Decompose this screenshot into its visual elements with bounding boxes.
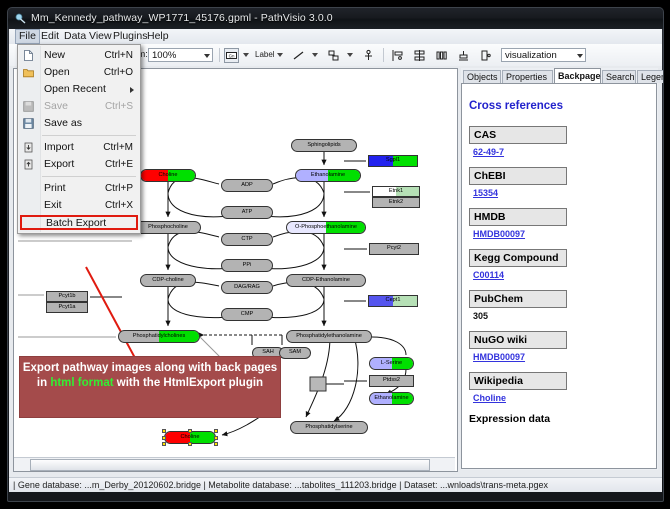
backpage-title: Cross references [469, 100, 645, 112]
node-label: CTP [241, 237, 252, 243]
export-icon [23, 159, 34, 170]
status-text: | Gene database: ...m_Derby_20120602.bri… [9, 480, 548, 490]
metabolite-node-dag-rag[interactable]: DAG/RAG [221, 281, 273, 294]
distribute-icon[interactable] [434, 48, 449, 63]
menu-item-accelerator: Ctrl+M [103, 139, 133, 156]
menu-item-label: Save [44, 100, 68, 112]
node-label: Pcyt1a [58, 305, 75, 311]
file-menu-item-batch-export[interactable]: Batch Export [20, 215, 138, 230]
chevron-down-icon [577, 54, 583, 58]
toolbar-separator [219, 48, 220, 62]
xref-link[interactable]: Choline [473, 393, 506, 403]
xref-link[interactable]: HMDB00097 [473, 229, 525, 239]
new-file-icon [23, 50, 34, 61]
menu-item-label: New [44, 49, 65, 61]
align-center-icon[interactable] [412, 48, 427, 63]
metabolite-node-cmp[interactable]: CMP [221, 308, 273, 321]
metabolite-node-ppi[interactable]: PPi [221, 259, 273, 272]
selection-handle[interactable] [214, 429, 218, 433]
xref-value-pubchem: 305 [473, 311, 645, 321]
node-label: ATP [242, 210, 252, 216]
menu-item-accelerator: Ctrl+X [105, 197, 133, 214]
menu-item-label: Exit [44, 199, 62, 211]
anchor-tool-icon[interactable] [361, 48, 376, 63]
cross-reference-list: CAS62-49-7ChEBI15354HMDBHMDB00097Kegg Co… [469, 126, 645, 403]
menu-item-accelerator: Ctrl+S [105, 98, 133, 115]
menu-item-label: Save as [44, 117, 82, 129]
xref-value-nugo-wiki[interactable]: HMDB00097 [473, 352, 645, 362]
file-menu-item-export[interactable]: ExportCtrl+E [18, 156, 140, 173]
node-label: ADP [241, 183, 253, 189]
node-label: Pcyt1b [58, 294, 75, 300]
xref-source-cas: CAS [469, 126, 567, 144]
zoom-value: 100% [152, 50, 176, 61]
application-window: Mm_Kennedy_pathway_WP1771_45176.gpml - P… [7, 7, 664, 502]
line-dropdown-icon[interactable] [312, 53, 318, 57]
tab-backpage[interactable]: Backpage [554, 68, 601, 83]
metabolite-node-phosphatidylserine[interactable]: Phosphatidylserine [290, 421, 368, 434]
line-tool-icon[interactable] [291, 48, 306, 63]
callout-text-after: with the HtmlExport plugin [114, 377, 264, 389]
metabolite-node-cdp-choline[interactable]: CDP-choline [140, 274, 196, 287]
xref-value-hmdb[interactable]: HMDB00097 [473, 229, 645, 239]
pathvisio-icon [15, 13, 26, 24]
node-label: SAH [262, 350, 274, 356]
metabolite-node-ctp[interactable]: CTP [221, 233, 273, 246]
node-label: O-Phosphoethanolamine [295, 225, 357, 231]
node-label: Choline [159, 173, 178, 179]
scrollbar-thumb[interactable] [30, 459, 430, 471]
menu-item-accelerator: Ctrl+N [104, 47, 133, 64]
menu-item-label: Export [44, 158, 74, 170]
node-label: PPi [243, 263, 252, 269]
node-label: CDP-choline [152, 278, 183, 284]
xref-source-kegg-compound: Kegg Compound [469, 249, 567, 267]
gene-node-ptdss2[interactable]: Ptdss2 [369, 375, 414, 387]
metabolite-node-phosphatidylcholines[interactable]: Phosphatidylcholines [118, 330, 200, 343]
gene-node-etnk1[interactable]: Etnk1 [372, 186, 420, 197]
menu-item-label: Open Recent [44, 83, 106, 95]
node-label: Phosphatidylserine [305, 425, 352, 431]
xref-source-hmdb: HMDB [469, 208, 567, 226]
node-label: Phosphatidylcholines [133, 334, 186, 340]
xref-link[interactable]: 15354 [473, 188, 498, 198]
zoom-combo[interactable]: 100% [148, 48, 213, 62]
save-as-icon [23, 118, 34, 129]
gene-node-sgpl1[interactable]: Sgpl1 [368, 155, 418, 167]
file-menu-item-print[interactable]: PrintCtrl+P [18, 180, 140, 197]
file-menu-dropdown[interactable]: NewCtrl+NOpenCtrl+OOpen RecentSaveCtrl+S… [17, 44, 141, 234]
node-label: Cept1 [386, 298, 401, 304]
metabolite-node-adp[interactable]: ADP [221, 179, 273, 192]
save-icon [23, 101, 34, 112]
metabolite-node-cdp-ethanolamine[interactable]: CDP-Ethanolamine [286, 274, 366, 287]
file-menu-item-save[interactable]: SaveCtrl+S [18, 98, 140, 115]
toolbar-separator-2 [383, 48, 384, 62]
node-label: Sphingolipids [307, 143, 340, 149]
status-bar: | Gene database: ...m_Derby_20120602.bri… [9, 477, 662, 492]
selection-handle[interactable] [214, 436, 218, 440]
node-label: Pcyt2 [387, 246, 401, 252]
folder-icon [23, 67, 34, 78]
tab-search[interactable]: Search [602, 70, 636, 83]
file-menu-item-new[interactable]: NewCtrl+N [18, 47, 140, 64]
menu-help[interactable]: Help [144, 30, 172, 43]
menu-separator [42, 176, 136, 177]
import-icon [23, 142, 34, 153]
metabolite-node-sam[interactable]: SAM [279, 347, 311, 359]
node-label: CMP [241, 312, 253, 318]
tab-properties[interactable]: Properties [502, 70, 553, 83]
xref-source-nugo-wiki: NuGO wiki [469, 331, 567, 349]
menu-item-label: Batch Export [46, 217, 106, 229]
side-panel: Objects Properties Backpage Search Legen… [461, 68, 658, 470]
menu-item-accelerator: Ctrl+P [105, 180, 133, 197]
file-menu-item-save-as[interactable]: Save as [18, 115, 140, 132]
xref-value-wikipedia[interactable]: Choline [473, 393, 645, 403]
chevron-right-icon [130, 87, 134, 93]
file-menu-item-exit[interactable]: ExitCtrl+X [18, 197, 140, 214]
window-title: Mm_Kennedy_pathway_WP1771_45176.gpml - P… [31, 12, 333, 24]
file-menu-item-open[interactable]: OpenCtrl+O [18, 64, 140, 81]
canvas-horizontal-scrollbar[interactable] [14, 457, 455, 471]
selection-handle[interactable] [188, 429, 192, 433]
side-panel-tabs: Objects Properties Backpage Search Legen… [461, 68, 658, 83]
node-label: DAG/RAG [234, 285, 260, 291]
file-menu-item-import[interactable]: ImportCtrl+M [18, 139, 140, 156]
file-menu-items: NewCtrl+NOpenCtrl+OOpen RecentSaveCtrl+S… [18, 47, 140, 230]
xref-value-kegg-compound[interactable]: C00114 [473, 270, 645, 280]
xref-source-wikipedia: Wikipedia [469, 372, 567, 390]
menu-separator [42, 135, 136, 136]
metabolite-node-ethanolamine[interactable]: Ethanolamine [295, 169, 361, 182]
metabolite-node-phosphatidylethanolamine[interactable]: Phosphatidylethanolamine [286, 330, 372, 343]
metabolite-node-o-phosphoethanolamine[interactable]: O-Phosphoethanolamine [286, 221, 366, 234]
node-label: Phosphocholine [148, 225, 188, 231]
metabolite-node-ethanolamine[interactable]: Ethanolamine [369, 392, 414, 405]
shape-dropdown-icon[interactable] [347, 53, 353, 57]
label-tool-label[interactable]: Label [255, 50, 275, 59]
xref-value-chebi[interactable]: 15354 [473, 188, 645, 198]
xref-link[interactable]: 62-49-7 [473, 147, 504, 157]
selection-handle[interactable] [162, 429, 166, 433]
metabolite-node-phosphocholine[interactable]: Phosphocholine [135, 221, 201, 234]
node-label: Phosphatidylethanolamine [296, 334, 362, 340]
menu-file[interactable]: File [15, 29, 40, 44]
menu-item-accelerator: Ctrl+O [104, 64, 133, 81]
node-label: L-Serine [381, 361, 402, 367]
stack-icon[interactable] [456, 48, 471, 63]
window-titlebar: Mm_Kennedy_pathway_WP1771_45176.gpml - P… [8, 8, 663, 29]
tab-objects[interactable]: Objects [463, 70, 501, 83]
node-label: Ethanolamine [374, 396, 408, 402]
align-left-icon[interactable] [390, 48, 405, 63]
xref-link[interactable]: HMDB00097 [473, 352, 525, 362]
metabolite-node-choline[interactable]: Choline [140, 169, 196, 182]
selection-handle[interactable] [188, 442, 192, 446]
node-label: Ethanolamine [311, 173, 345, 179]
node-label: Etnk1 [389, 189, 403, 195]
datanode-dropdown-icon[interactable] [243, 53, 249, 57]
svg-text:Gn: Gn [229, 53, 235, 58]
gene-node-pcyt1b[interactable]: Pcyt1b [46, 291, 88, 302]
xref-value-cas[interactable]: 62-49-7 [473, 147, 645, 157]
visualization-value: visualization [505, 50, 557, 61]
menubar: File Edit Data View Plugins Help [9, 29, 662, 45]
node-label: SAM [289, 350, 301, 356]
menu-item-accelerator: Ctrl+E [105, 156, 133, 173]
gene-node-etnk2[interactable]: Etnk2 [372, 197, 420, 208]
selection-handle[interactable] [162, 436, 166, 440]
tab-legend[interactable]: Legend [637, 70, 664, 83]
visualization-combo[interactable]: visualization [501, 48, 586, 62]
selection-handle[interactable] [162, 442, 166, 446]
gene-node-cept1[interactable]: Cept1 [368, 295, 418, 307]
node-label: Etnk2 [389, 200, 403, 206]
selection-handle[interactable] [214, 442, 218, 446]
xref-source-pubchem: PubChem [469, 290, 567, 308]
menu-item-label: Print [44, 182, 66, 194]
node-label: CDP-Ethanolamine [302, 278, 350, 284]
metabolite-node-l-serine[interactable]: L-Serine [369, 357, 414, 370]
chevron-down-icon [204, 54, 210, 58]
menu-item-label: Open [44, 66, 70, 78]
xref-link[interactable]: C00114 [473, 270, 504, 280]
gene-node-pcyt2[interactable]: Pcyt2 [369, 243, 419, 255]
desktop-background: Mm_Kennedy_pathway_WP1771_45176.gpml - P… [0, 0, 670, 509]
file-menu-item-open-recent[interactable]: Open Recent [18, 81, 140, 98]
label-dropdown-icon[interactable] [277, 53, 283, 57]
menu-data[interactable]: Data [61, 30, 89, 43]
xref-source-chebi: ChEBI [469, 167, 567, 185]
metabolite-node-sphingolipids[interactable]: Sphingolipids [291, 139, 357, 152]
expression-data-heading: Expression data [469, 413, 645, 425]
callout-annotation: Export pathway images along with back pa… [19, 356, 281, 418]
menu-item-label: Import [44, 141, 74, 153]
backpage-content[interactable]: Cross references CAS62-49-7ChEBI15354HMD… [461, 83, 657, 469]
datanode-tool-icon[interactable]: Gn [224, 48, 239, 63]
node-label: Ptdss2 [383, 378, 400, 384]
node-label: Choline [181, 435, 200, 441]
gene-node-pcyt1a[interactable]: Pcyt1a [46, 302, 88, 313]
group-icon[interactable] [478, 48, 493, 63]
metabolite-node-atp[interactable]: ATP [221, 206, 273, 219]
shape-tool-icon[interactable] [326, 48, 341, 63]
menu-edit[interactable]: Edit [38, 30, 62, 43]
node-label: Sgpl1 [386, 158, 400, 164]
callout-highlight: html format [50, 377, 113, 389]
